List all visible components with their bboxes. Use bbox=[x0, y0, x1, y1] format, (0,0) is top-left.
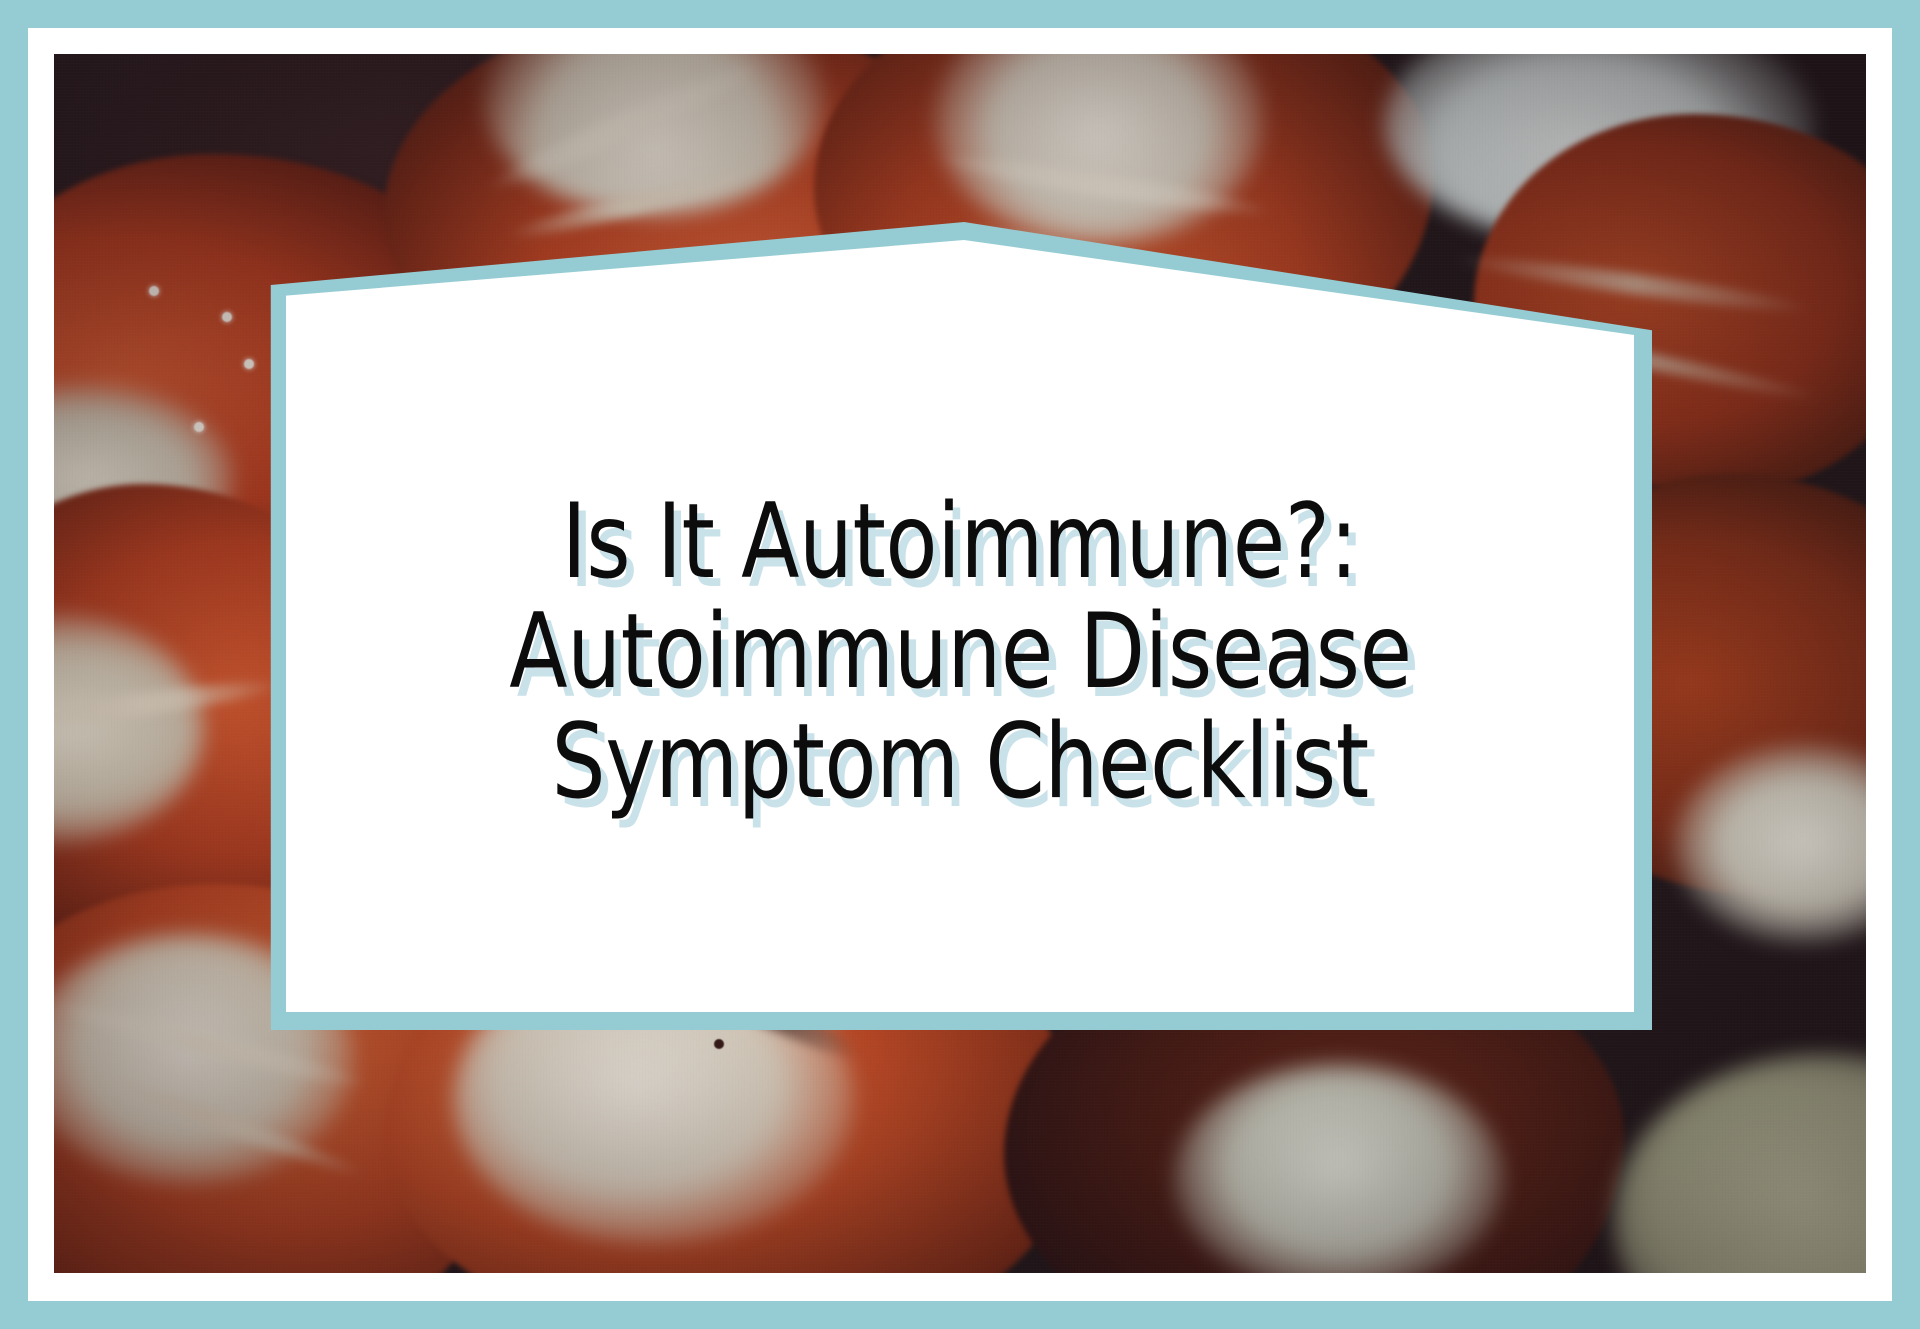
title-line-1: Is It Autoimmune?: bbox=[562, 487, 1358, 597]
title-line-3: Symptom Checklist bbox=[551, 707, 1368, 817]
title-line-2: Autoimmune Disease bbox=[509, 597, 1411, 707]
page-title: Is It Autoimmune?: Autoimmune Disease Sy… bbox=[286, 240, 1634, 1012]
poster-canvas: Is It Autoimmune?: Autoimmune Disease Sy… bbox=[0, 0, 1920, 1329]
